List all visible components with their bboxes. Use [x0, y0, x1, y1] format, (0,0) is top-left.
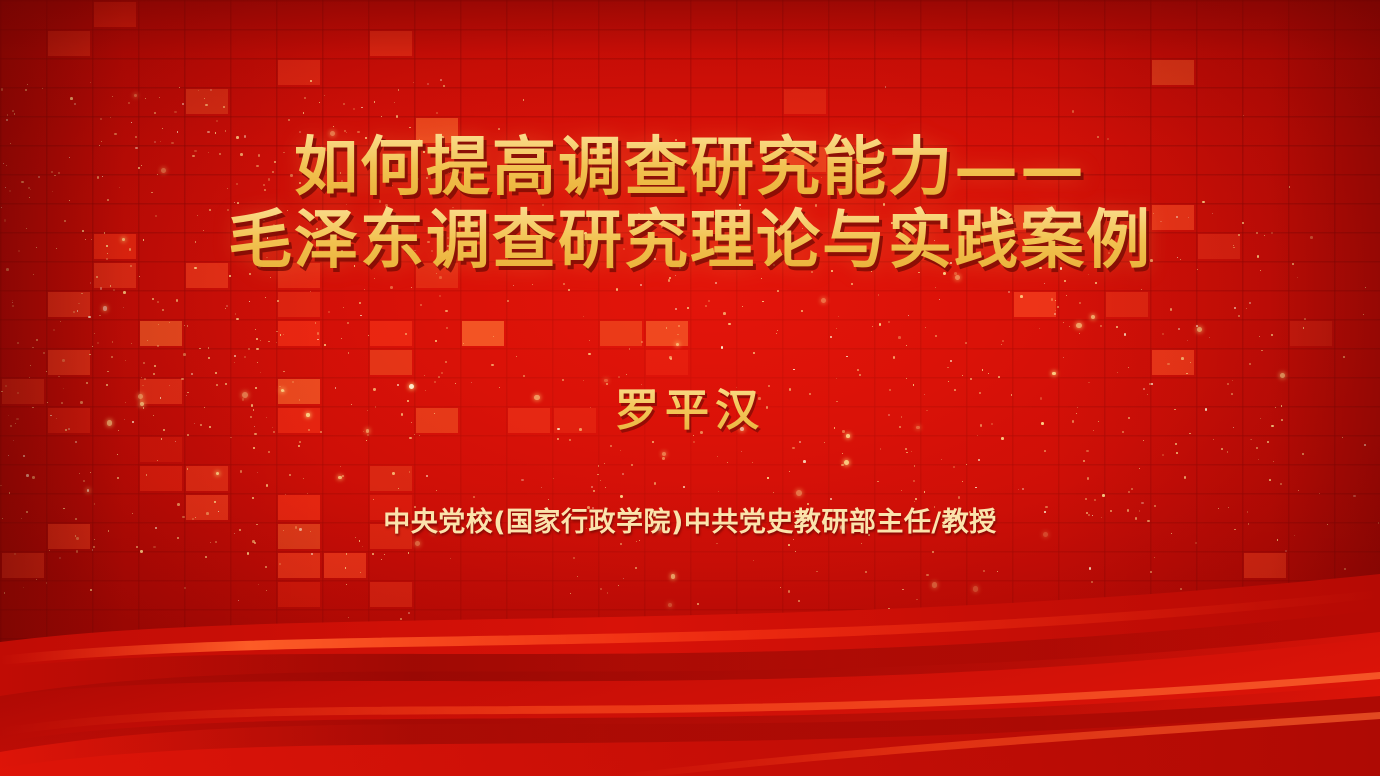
sparkle-particle [932, 551, 934, 553]
mosaic-cell [1152, 60, 1194, 85]
sparkle-particle [203, 230, 204, 231]
sparkle-particle [181, 378, 183, 380]
sparkle-particle [47, 402, 48, 403]
sparkle-particle [402, 242, 404, 244]
sparkle-particle [906, 378, 907, 379]
sparkle-particle [12, 110, 14, 112]
sparkle-particle [346, 132, 347, 133]
sparkle-particle [980, 424, 982, 426]
sparkle-particle [918, 272, 920, 274]
sparkle-particle [836, 378, 837, 379]
sparkle-particle [1150, 259, 1153, 262]
sparkle-particle [36, 339, 38, 341]
sparkle-particle [715, 282, 717, 284]
sparkle-particle [901, 416, 903, 418]
sparkle-particle [809, 393, 811, 395]
sparkle-particle [836, 328, 837, 329]
sparkle-particle [452, 207, 454, 209]
sparkle-particle [1002, 340, 1004, 342]
sparkle-particle [960, 248, 961, 249]
sparkle-particle [968, 211, 969, 212]
sparkle-particle [427, 83, 429, 85]
sparkle-particle [159, 97, 161, 99]
sparkle-particle [1008, 291, 1010, 293]
sparkle-particle [100, 287, 103, 290]
sparkle-particle [92, 346, 93, 347]
sparkle-particle [1141, 251, 1143, 253]
sparkle-particle [254, 426, 255, 427]
sparkle-particle [91, 239, 92, 240]
sparkle-particle [1353, 495, 1355, 497]
sparkle-particle [174, 111, 177, 114]
sparkle-particle [194, 150, 196, 152]
sparkle-particle [52, 191, 53, 192]
sparkle-particle [306, 413, 309, 416]
mosaic-cell [416, 408, 458, 433]
sparkle-particle [375, 406, 377, 408]
sparkle-particle [888, 608, 889, 609]
sparkle-particle [738, 231, 739, 232]
sparkle-particle [780, 587, 781, 588]
sparkle-particle [347, 322, 349, 324]
sparkle-particle [950, 262, 952, 264]
sparkle-particle [1327, 524, 1328, 525]
mosaic-cell [94, 234, 136, 259]
sparkle-particle [374, 101, 376, 103]
sparkle-particle [723, 312, 726, 315]
sparkle-particle [100, 118, 102, 120]
sparkle-particle [662, 215, 663, 216]
sparkle-particle [398, 155, 401, 158]
sparkle-particle [21, 181, 23, 183]
sparkle-particle [924, 491, 926, 493]
sparkle-particle [303, 112, 305, 114]
sparkle-particle [75, 441, 77, 443]
sparkle-particle [463, 343, 464, 344]
sparkle-particle [793, 539, 794, 540]
sparkle-particle [450, 558, 451, 559]
sparkle-particle [668, 279, 671, 282]
sparkle-particle [153, 415, 154, 416]
sparkle-particle [420, 144, 422, 146]
sparkle-particle [1135, 517, 1138, 520]
sparkle-particle [434, 413, 435, 414]
sparkle-particle [898, 336, 901, 339]
sparkle-particle [187, 468, 189, 470]
sparkle-particle [30, 365, 31, 366]
sparkle-particle [671, 574, 675, 578]
sparkle-particle [234, 202, 235, 203]
sparkle-particle [333, 126, 334, 127]
sparkle-particle [1040, 215, 1042, 217]
sparkle-particle [676, 343, 679, 346]
sparkle-particle [335, 387, 337, 389]
sparkle-particle [360, 572, 361, 573]
sparkle-particle [899, 426, 902, 429]
sparkle-particle [1044, 511, 1046, 513]
sparkle-particle [914, 501, 916, 503]
sparkle-particle [1232, 380, 1233, 381]
sparkle-particle [341, 338, 342, 339]
sparkle-particle [1167, 363, 1169, 365]
sparkle-particle [106, 245, 107, 246]
sparkle-particle [317, 339, 318, 340]
sparkle-particle [583, 316, 584, 317]
sparkle-particle [1041, 422, 1044, 425]
mosaic-cell [646, 350, 688, 375]
sparkle-particle [426, 177, 428, 179]
sparkle-particle [1094, 499, 1096, 501]
sparkle-particle [1088, 514, 1090, 516]
sparkle-particle [877, 481, 879, 483]
sparkle-particle [153, 546, 155, 548]
sparkle-particle [844, 460, 849, 465]
sparkle-particle [1177, 257, 1178, 258]
sparkle-particle [304, 97, 306, 99]
sparkle-particle [604, 379, 607, 382]
sparkle-particle [366, 440, 367, 441]
sparkle-particle [275, 215, 277, 217]
sparkle-particle [83, 480, 85, 482]
sparkle-particle [1186, 373, 1187, 374]
sparkle-particle [777, 330, 779, 332]
sparkle-particle [90, 82, 91, 83]
sparkle-particle [590, 407, 591, 408]
sparkle-particle [366, 429, 369, 432]
sparkle-particle [208, 152, 209, 153]
mosaic-cell [784, 89, 826, 114]
sparkle-particle [200, 424, 202, 426]
sparkle-particle [718, 491, 719, 492]
sparkle-particle [1378, 522, 1379, 523]
sparkle-particle [344, 188, 346, 190]
sparkle-particle [223, 106, 224, 107]
sparkle-particle [56, 248, 57, 249]
sparkle-particle [310, 531, 311, 532]
sparkle-particle [263, 220, 265, 222]
sparkle-particle [107, 371, 109, 373]
sparkle-particle [90, 589, 92, 591]
sparkle-particle [1092, 515, 1093, 516]
sparkle-particle [1269, 479, 1271, 481]
mosaic-cell [370, 524, 412, 549]
sparkle-particle [1058, 236, 1060, 238]
sparkle-particle [1098, 421, 1099, 422]
sparkle-particle [308, 243, 311, 246]
sparkle-particle [1143, 388, 1145, 390]
sparkle-particle [226, 305, 228, 307]
sparkle-particle [175, 441, 177, 443]
sparkle-particle [26, 228, 27, 229]
sparkle-particle [1040, 216, 1042, 218]
sparkle-particle [473, 496, 475, 498]
sparkle-particle [1044, 283, 1045, 284]
sparkle-particle [1131, 488, 1133, 490]
sparkle-particle [264, 189, 266, 191]
sparkle-particle [96, 276, 98, 278]
sparkle-particle [268, 451, 270, 453]
sparkle-particle [78, 303, 79, 304]
sparkle-particle [630, 404, 632, 406]
sparkle-particle [354, 265, 355, 266]
sparkle-particle [374, 278, 375, 279]
sparkle-particle [640, 284, 642, 286]
sparkle-particle [87, 489, 90, 492]
mosaic-cell [278, 379, 320, 404]
sparkle-particle [916, 737, 918, 739]
sparkle-particle [978, 459, 980, 461]
sparkle-particle [76, 550, 78, 552]
sparkle-particle [140, 550, 142, 552]
sparkle-particle [721, 346, 724, 349]
sparkle-particle [716, 543, 718, 545]
sparkle-particle [192, 155, 195, 158]
sparkle-particle [1124, 333, 1127, 336]
sparkle-particle [902, 589, 904, 591]
sparkle-particle [1342, 437, 1343, 438]
sparkle-particle [742, 306, 743, 307]
sparkle-particle [56, 418, 58, 420]
sparkle-particle [209, 209, 211, 211]
sparkle-particle [1249, 302, 1251, 304]
sparkle-particle [76, 537, 78, 539]
sparkle-particle [573, 557, 575, 559]
sparkle-particle [303, 478, 304, 479]
sparkle-particle [668, 603, 672, 607]
sparkle-particle [75, 518, 77, 520]
sparkle-particle [851, 283, 853, 285]
sparkle-particle [865, 571, 867, 573]
sparkle-particle [1267, 441, 1269, 443]
sparkle-particle [1154, 557, 1155, 558]
sparkle-particle [1212, 213, 1214, 215]
sparkle-particle [310, 291, 311, 292]
sparkle-particle [830, 336, 832, 338]
sparkle-particle [1154, 505, 1156, 507]
sparkle-particle [1116, 326, 1118, 328]
sparkle-particle [340, 466, 341, 467]
sparkle-particle [1238, 315, 1240, 317]
mosaic-cell [94, 2, 136, 27]
sparkle-particle [92, 549, 94, 551]
sparkle-particle [158, 324, 160, 326]
sparkle-particle [807, 503, 809, 505]
sparkle-particle [888, 414, 891, 417]
sparkle-particle [1085, 498, 1087, 500]
sparkle-particle [1171, 533, 1172, 534]
sparkle-particle [591, 486, 593, 488]
sparkle-particle [384, 554, 385, 555]
sparkle-particle [523, 375, 525, 377]
sparkle-particle [36, 579, 37, 580]
sparkle-particle [122, 238, 125, 241]
sparkle-particle [570, 593, 571, 594]
sparkle-particle [1213, 630, 1214, 631]
sparkle-particle [973, 586, 979, 592]
sparkle-particle [177, 131, 179, 133]
sparkle-particle [373, 388, 375, 390]
sparkle-particle [414, 223, 417, 226]
title-line-2: 毛泽东调查研究理论与实践案例 [228, 205, 1152, 278]
sparkle-particle [308, 429, 310, 431]
sparkle-particle [639, 540, 640, 541]
sparkle-particle [1139, 510, 1141, 512]
sparkle-particle [42, 88, 43, 89]
mosaic-cell [416, 263, 458, 288]
sparkle-particle [234, 533, 235, 534]
sparkle-particle [911, 451, 912, 452]
sparkle-particle [1303, 327, 1305, 329]
sparkle-particle [346, 584, 347, 585]
sparkle-particle [49, 550, 50, 551]
sparkle-particle [606, 383, 608, 385]
sparkle-particle [654, 258, 657, 261]
sparkle-particle [317, 332, 320, 335]
sparkle-particle [832, 183, 833, 184]
sparkle-particle [124, 419, 125, 420]
sparkle-particle [438, 376, 440, 378]
sparkle-particle [88, 316, 91, 319]
sparkle-particle [662, 457, 665, 460]
sparkle-particle [857, 369, 859, 371]
sparkle-particle [394, 102, 395, 103]
sparkle-particle [94, 539, 95, 540]
sparkle-particle [880, 448, 882, 450]
sparkle-particle [1107, 138, 1109, 140]
sparkle-particle [157, 460, 158, 461]
sparkle-particle [1063, 357, 1064, 358]
sparkle-particle [30, 189, 31, 190]
sparkle-particle [107, 253, 108, 254]
sparkle-particle [1055, 300, 1057, 302]
sparkle-particle [1091, 581, 1094, 584]
sparkle-particle [654, 482, 656, 484]
sparkle-particle [727, 462, 728, 463]
sparkle-particle [345, 567, 347, 569]
mosaic-cell [1152, 350, 1194, 375]
sparkle-particle [130, 265, 132, 267]
sparkle-particle [739, 204, 741, 206]
sparkle-particle [834, 427, 836, 429]
sparkle-particle [277, 300, 279, 302]
sparkle-particle [23, 455, 26, 458]
sparkle-particle [268, 178, 271, 181]
sparkle-particle [773, 264, 775, 266]
sparkle-particle [26, 474, 29, 477]
sparkle-particle [962, 481, 963, 482]
sparkle-particle [958, 496, 960, 498]
sparkle-particle [227, 209, 229, 211]
sparkle-particle [705, 305, 707, 307]
sparkle-particle [439, 276, 442, 279]
sparkle-particle [846, 356, 848, 358]
sparkle-particle [151, 192, 152, 193]
sparkle-particle [381, 116, 382, 117]
sparkle-particle [234, 355, 235, 356]
sparkle-particle [445, 361, 448, 364]
sparkle-particle [8, 455, 9, 456]
sparkle-particle [687, 263, 688, 264]
sparkle-particle [341, 250, 343, 252]
sparkle-particle [123, 307, 124, 308]
sparkle-particle [427, 241, 430, 244]
sparkle-particle [934, 240, 935, 241]
sparkle-particle [949, 263, 951, 265]
sparkle-particle [616, 288, 618, 290]
mosaic-cell [646, 321, 688, 346]
sparkle-particle [194, 267, 197, 270]
sparkle-particle [17, 342, 19, 344]
sparkle-particle [448, 172, 449, 173]
sparkle-particle [26, 511, 28, 513]
sparkle-particle [1271, 334, 1273, 336]
sparkle-particle [553, 478, 554, 479]
sparkle-particle [266, 257, 267, 258]
sparkle-particle [14, 113, 16, 115]
sparkle-particle [842, 453, 843, 454]
sparkle-particle [996, 257, 998, 259]
sparkle-particle [123, 291, 126, 294]
sparkle-particle [1304, 318, 1306, 320]
sparkle-particle [14, 553, 15, 554]
sparkle-particle [874, 246, 876, 248]
sparkle-particle [1256, 447, 1258, 449]
sparkle-particle [401, 413, 403, 415]
sparkle-particle [131, 343, 132, 344]
presenter-name: 罗平汉 [615, 374, 765, 438]
sparkle-particle [1022, 488, 1024, 490]
sparkle-particle [365, 137, 367, 139]
sparkle-particle [652, 441, 654, 443]
sparkle-particle [141, 377, 143, 379]
sparkle-particle [265, 297, 266, 298]
background-base-gradient [0, 0, 1380, 776]
sparkle-particle [29, 197, 31, 199]
sparkle-particle [1363, 314, 1364, 315]
sparkle-particle [447, 237, 449, 239]
sparkle-particle [811, 271, 813, 273]
sparkle-particle [320, 233, 323, 236]
sparkle-particle [848, 148, 850, 150]
sparkle-particle [225, 383, 227, 385]
sparkle-particle [257, 362, 259, 364]
sparkle-particle [184, 325, 185, 326]
sparkle-particle [789, 388, 791, 390]
sparkle-particle [299, 182, 301, 184]
sparkle-particle [1365, 287, 1366, 288]
sparkle-particle [28, 187, 30, 189]
sparkle-particle [225, 308, 226, 309]
sparkle-particle [557, 428, 559, 430]
sparkle-particle [274, 161, 276, 163]
mosaic-cell [140, 466, 182, 491]
mosaic-cell [140, 437, 182, 462]
sparkle-particle [351, 404, 352, 405]
mosaic-cell [94, 263, 136, 288]
sparkle-particle [298, 445, 300, 447]
sparkle-particle [260, 340, 261, 341]
sparkle-particle [6, 165, 7, 166]
sparkle-particle [1149, 383, 1151, 385]
sparkle-particle [758, 397, 761, 400]
sparkle-particle [141, 165, 142, 166]
sparkle-particle [1055, 310, 1056, 311]
sparkle-particle [1233, 245, 1234, 246]
sparkle-particle [693, 441, 695, 443]
sparkle-particle [1128, 491, 1130, 493]
sparkle-particle [1247, 511, 1249, 513]
sparkle-particle [194, 423, 195, 424]
